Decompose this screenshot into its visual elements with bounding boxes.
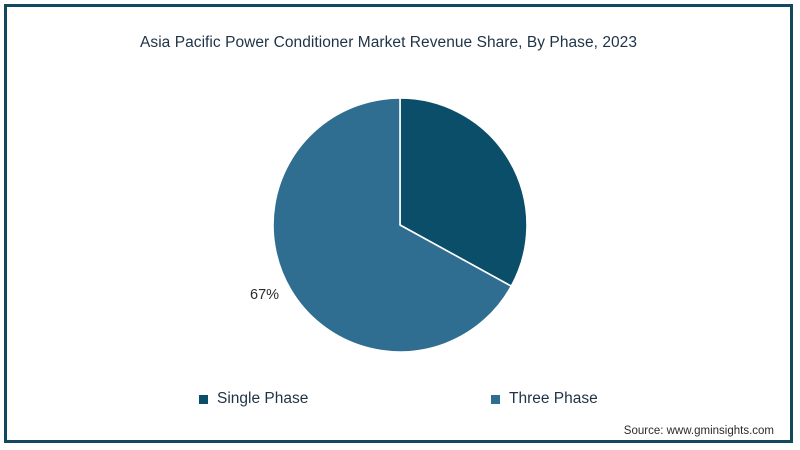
chart-legend: Single Phase Three Phase [0, 388, 800, 412]
legend-label-three-phase: Three Phase [509, 391, 598, 407]
pie-chart [273, 98, 527, 352]
source-note: Source: www.gminsights.com [624, 425, 774, 437]
legend-item-three-phase[interactable]: Three Phase [491, 388, 598, 410]
chart-title: Asia Pacific Power Conditioner Market Re… [140, 34, 637, 52]
chart-figure: Asia Pacific Power Conditioner Market Re… [0, 0, 800, 450]
legend-label-single-phase: Single Phase [217, 391, 308, 407]
legend-item-single-phase[interactable]: Single Phase [199, 388, 308, 410]
legend-swatch-icon-single-phase [199, 395, 208, 404]
pie-svg [273, 98, 527, 352]
pie-slice-label-three-phase: 67% [250, 287, 279, 303]
pie-slice-group [273, 98, 527, 352]
legend-swatch-icon-three-phase [491, 395, 500, 404]
